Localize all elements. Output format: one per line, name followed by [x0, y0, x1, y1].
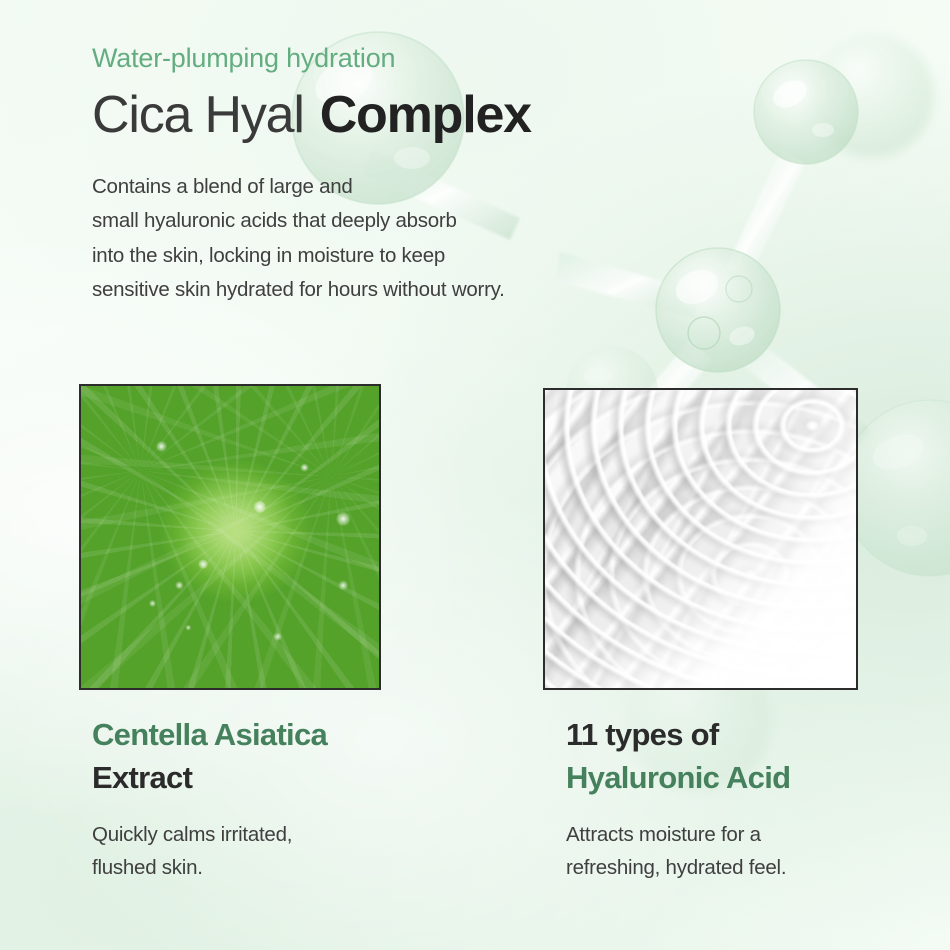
dew-droplets [81, 386, 379, 688]
water-ripple-texture-photo [545, 390, 856, 688]
product-infographic: Water-plumping hydration Cica HyalComple… [0, 0, 950, 950]
hero-description-line: into the skin, locking in moisture to ke… [92, 239, 792, 273]
caption-title-line1: 11 types of [566, 717, 719, 752]
caption-title-line2: Extract [92, 760, 192, 795]
caption-body-line: refreshing, hydrated feel. [566, 851, 950, 884]
caption-body-line: flushed skin. [92, 851, 492, 884]
centella-caption-title: Centella Asiatica Extract [92, 714, 492, 800]
caption-title-line2: Hyaluronic Acid [566, 760, 790, 795]
hyaluronic-caption: 11 types of Hyaluronic Acid Attracts moi… [566, 714, 950, 884]
hyaluronic-caption-title: 11 types of Hyaluronic Acid [566, 714, 950, 800]
water-image-card [543, 388, 858, 690]
caption-body-line: Attracts moisture for a [566, 818, 950, 851]
centella-caption-body: Quickly calms irritated, flushed skin. [92, 818, 492, 884]
hero-description-line: sensitive skin hydrated for hours withou… [92, 273, 792, 307]
hero-copy: Water-plumping hydration Cica HyalComple… [92, 44, 792, 308]
hyaluronic-caption-body: Attracts moisture for a refreshing, hydr… [566, 818, 950, 884]
caption-body-line: Quickly calms irritated, [92, 818, 492, 851]
centella-asiatica-leaves-photo [81, 386, 379, 688]
page-title: Cica HyalComplex [92, 86, 792, 144]
centella-caption: Centella Asiatica Extract Quickly calms … [92, 714, 492, 884]
caption-title-line1: Centella Asiatica [92, 717, 327, 752]
ripple-highlight-fade [545, 390, 856, 688]
hero-description: Contains a blend of large and small hyal… [92, 170, 792, 308]
title-light-part: Cica Hyal [92, 86, 304, 144]
title-bold-part: Complex [320, 86, 531, 144]
eyebrow-text: Water-plumping hydration [92, 44, 792, 74]
centella-image-card [79, 384, 381, 690]
hero-description-line: Contains a blend of large and [92, 170, 792, 204]
hero-description-line: small hyaluronic acids that deeply absor… [92, 204, 792, 238]
